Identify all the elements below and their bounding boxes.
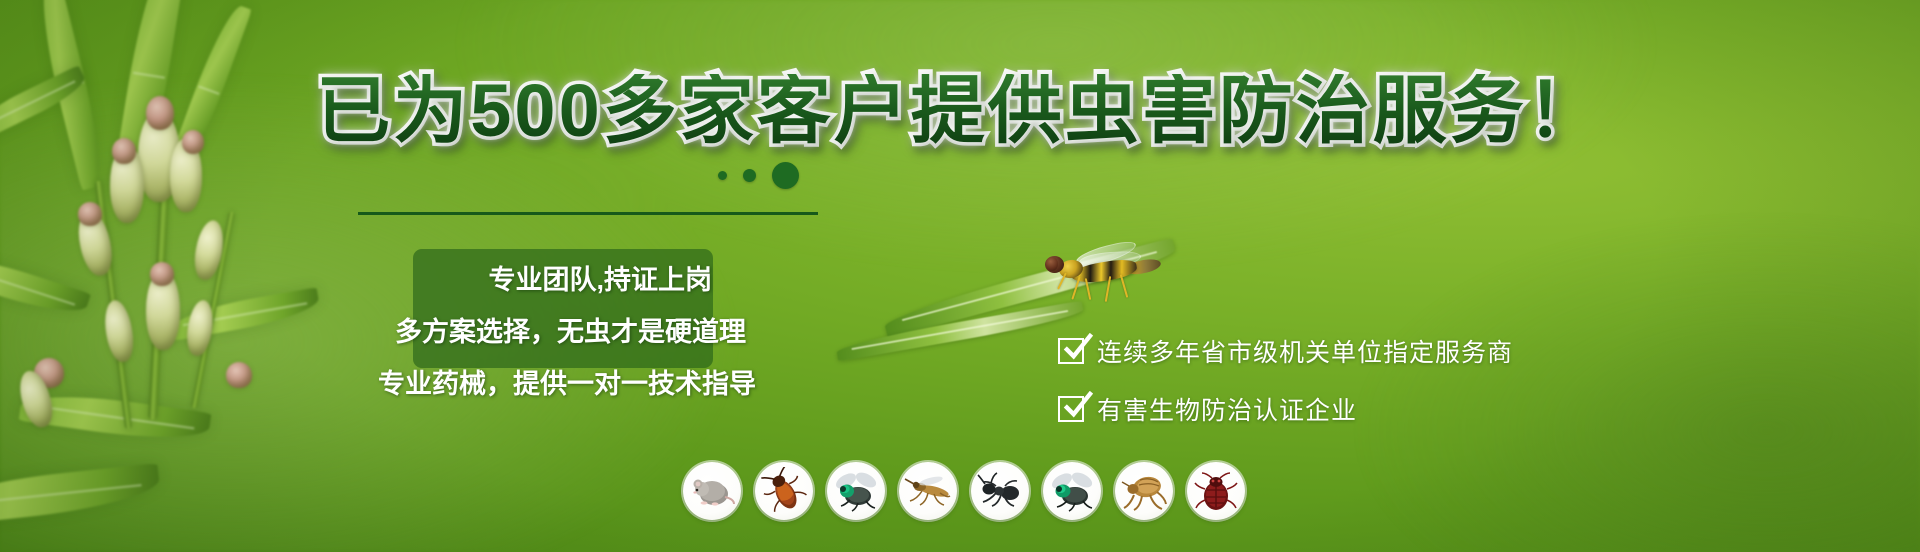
ant-icon: [971, 462, 1029, 520]
checklist-item-label: 连续多年省市级机关单位指定服务商: [1097, 333, 1513, 369]
slogan-line-3: 专业药械，提供一对一技术指导: [378, 362, 760, 401]
pest-icon-strip: [683, 462, 1245, 520]
checklist-item: 连续多年省市级机关单位指定服务商: [1058, 333, 1513, 369]
dot-small-icon: [718, 171, 727, 180]
mosquito-icon: [899, 462, 957, 520]
checklist-item: 有害生物防治认证企业: [1058, 391, 1513, 427]
cockroach-icon: [755, 462, 813, 520]
checkbox-checked-icon: [1058, 338, 1084, 364]
slogan-line-1: 专业团队,持证上岗: [488, 258, 760, 297]
checklist-item-label: 有害生物防治认证企业: [1097, 391, 1357, 427]
slogan-line-2: 多方案选择，无虫才是硬道理: [395, 310, 760, 349]
slogan-list: 专业团队,持证上岗 多方案选择，无虫才是硬道理 专业药械，提供一对一技术指导: [340, 258, 760, 401]
fly-icon: [827, 462, 885, 520]
mouse-icon: [683, 462, 741, 520]
decorative-dots: [718, 162, 799, 189]
bedbug-icon: [1187, 462, 1245, 520]
blowfly-icon: [1043, 462, 1101, 520]
dot-large-icon: [772, 162, 799, 189]
horizontal-divider: [358, 212, 818, 215]
promo-banner: 已为500多家客户提供虫害防治服务！ 已为500多家客户提供虫害防治服务！ 专业…: [0, 0, 1920, 552]
flea-icon: [1115, 462, 1173, 520]
dot-medium-icon: [743, 169, 756, 182]
page-headline: 已为500多家客户提供虫害防治服务！: [0, 74, 1920, 148]
checkbox-checked-icon: [1058, 396, 1084, 422]
credential-checklist: 连续多年省市级机关单位指定服务商 有害生物防治认证企业: [1058, 333, 1513, 427]
